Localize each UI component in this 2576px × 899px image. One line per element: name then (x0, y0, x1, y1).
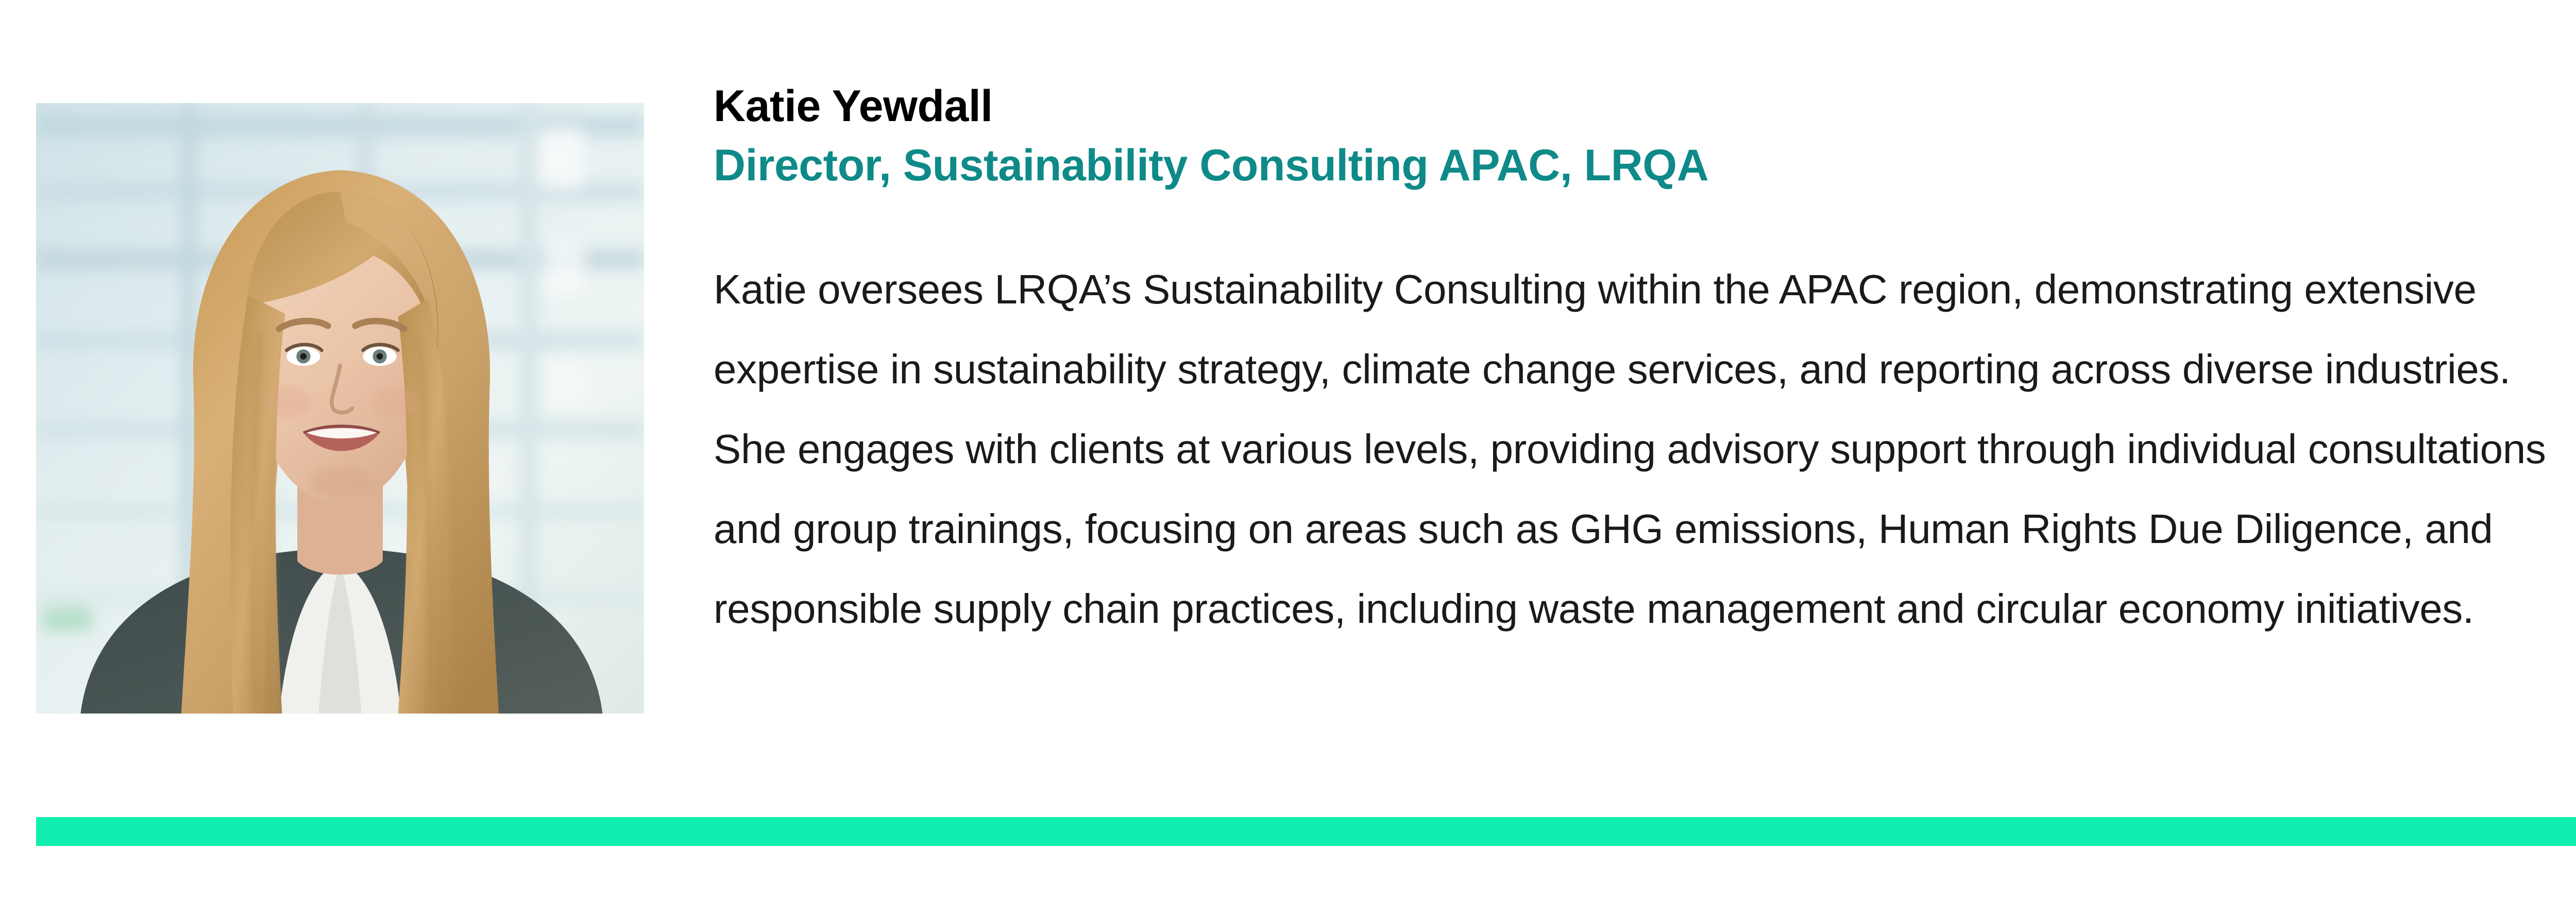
portrait-photo-image (36, 103, 644, 714)
speaker-name: Katie Yewdall (714, 77, 2576, 135)
speaker-text-block: Katie Yewdall Director, Sustainability C… (714, 77, 2576, 649)
bio-line: responsible supply chain practices, incl… (714, 569, 2576, 649)
accent-divider-bar (36, 817, 2576, 846)
bio-line: and group trainings, focusing on areas s… (714, 489, 2576, 569)
bio-line: She engages with clients at various leve… (714, 409, 2576, 489)
speaker-role: Director, Sustainability Consulting APAC… (714, 135, 2576, 196)
bio-line: Katie oversees LRQA’s Sustainability Con… (714, 249, 2576, 329)
speaker-portrait (36, 103, 644, 714)
speaker-bio-card: Katie Yewdall Director, Sustainability C… (0, 0, 2576, 899)
bio-line: expertise in sustainability strategy, cl… (714, 329, 2576, 409)
speaker-bio-paragraph: Katie oversees LRQA’s Sustainability Con… (714, 196, 2576, 649)
